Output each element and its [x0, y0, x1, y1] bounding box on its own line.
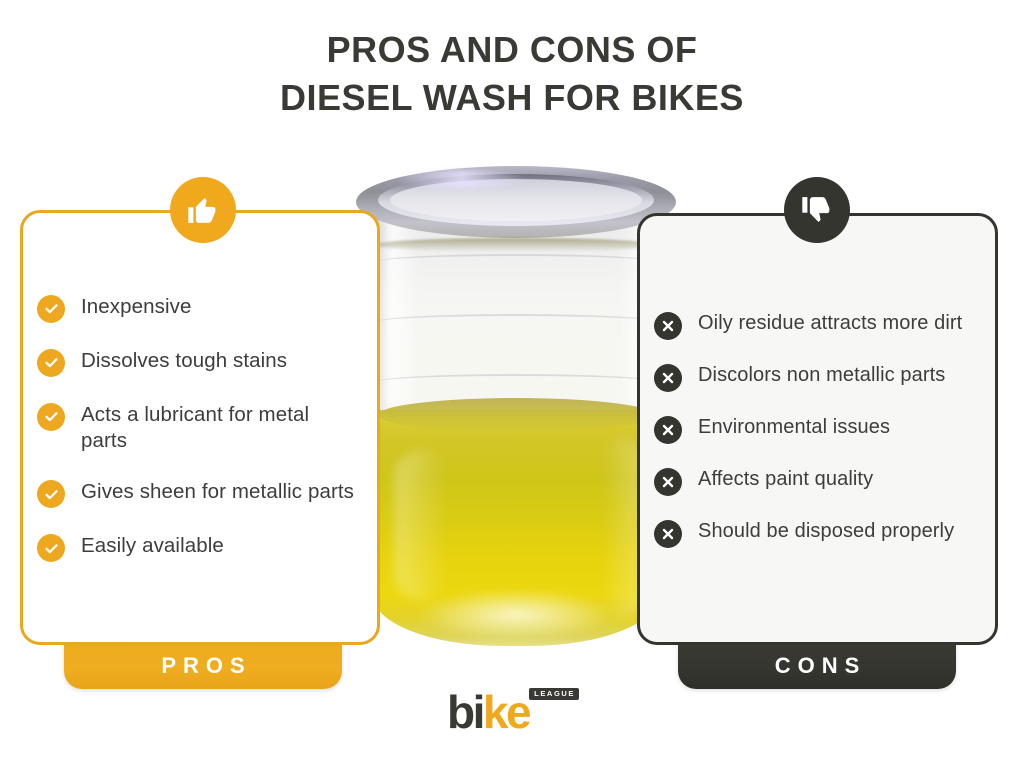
x-circle-icon: [654, 416, 682, 444]
list-item-label: Dissolves tough stains: [81, 347, 287, 374]
list-item: Acts a lubricant for metal parts: [37, 389, 359, 466]
list-item: Environmental issues: [654, 403, 977, 455]
list-item-label: Easily available: [81, 532, 224, 559]
list-item-label: Should be disposed properly: [698, 518, 954, 545]
list-item: Oily residue attracts more dirt: [654, 299, 977, 351]
list-item: Discolors non metallic parts: [654, 351, 977, 403]
list-item-label: Environmental issues: [698, 414, 890, 441]
x-circle-icon: [654, 520, 682, 548]
liquid-highlight-right: [602, 438, 642, 618]
check-circle-icon: [37, 295, 65, 323]
cons-card: Oily residue attracts more dirt Discolor…: [637, 213, 998, 645]
diesel-liquid: [372, 410, 660, 646]
x-circle-icon: [654, 468, 682, 496]
list-item-label: Gives sheen for metallic parts: [81, 478, 354, 505]
check-circle-icon: [37, 349, 65, 377]
list-item: Should be disposed properly: [654, 507, 977, 559]
list-item: Inexpensive: [37, 281, 359, 335]
jar-rim-gloss: [396, 170, 526, 188]
check-circle-icon: [37, 403, 65, 431]
jar-rim-shadow: [374, 238, 658, 252]
x-circle-icon: [654, 312, 682, 340]
logo-league-badge: LEAGUE: [529, 688, 579, 700]
list-item-label: Discolors non metallic parts: [698, 362, 945, 389]
glass-jar-graphic: [372, 166, 660, 656]
check-circle-icon: [37, 480, 65, 508]
logo-text-bi: bi: [447, 686, 483, 738]
list-item-label: Affects paint quality: [698, 466, 873, 493]
pros-list: Inexpensive Dissolves tough stains Acts …: [23, 213, 377, 642]
x-circle-icon: [654, 364, 682, 392]
title-line-1: PROS AND CONS OF: [0, 26, 1024, 74]
thumbs-down-icon: [784, 177, 850, 243]
thumbs-up-icon: [170, 177, 236, 243]
cons-list: Oily residue attracts more dirt Discolor…: [640, 216, 995, 642]
page-title: PROS AND CONS OF DIESEL WASH FOR BIKES: [0, 26, 1024, 122]
check-circle-icon: [37, 534, 65, 562]
jar-rim: [356, 166, 676, 242]
title-line-2: DIESEL WASH FOR BIKES: [0, 74, 1024, 122]
liquid-bottom-glow: [416, 588, 616, 642]
pros-banner-label: PROS: [154, 653, 251, 679]
bike-league-logo: bike LEAGUE: [447, 688, 577, 736]
cons-banner: CONS: [678, 643, 956, 689]
pros-banner: PROS: [64, 643, 342, 689]
liquid-highlight-left: [394, 450, 448, 600]
glass-ring: [376, 374, 656, 390]
infographic-canvas: PROS AND CONS OF DIESEL WASH FOR BIKES: [0, 0, 1024, 768]
list-item: Dissolves tough stains: [37, 335, 359, 389]
jar-body: [372, 194, 660, 646]
glass-ring: [376, 254, 656, 270]
list-item-label: Inexpensive: [81, 293, 192, 320]
pros-card: Inexpensive Dissolves tough stains Acts …: [20, 210, 380, 645]
cons-banner-label: CONS: [768, 653, 867, 679]
logo-text-ke: ke: [483, 686, 529, 738]
list-item: Affects paint quality: [654, 455, 977, 507]
list-item-label: Oily residue attracts more dirt: [698, 310, 962, 337]
liquid-surface: [378, 398, 654, 432]
list-item: Easily available: [37, 520, 359, 574]
list-item: Gives sheen for metallic parts: [37, 466, 359, 520]
glass-ring: [376, 314, 656, 330]
list-item-label: Acts a lubricant for metal parts: [81, 401, 359, 454]
